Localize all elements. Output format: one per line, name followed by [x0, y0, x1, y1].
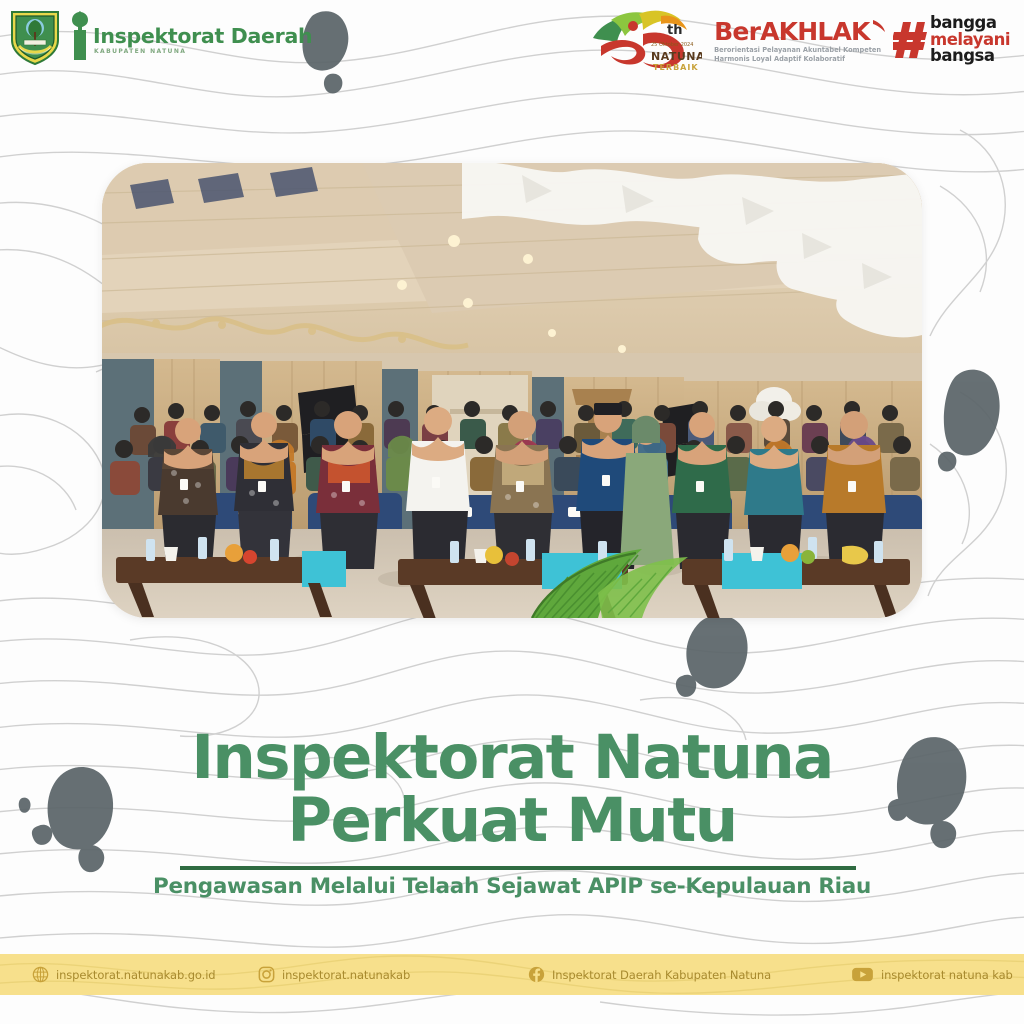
hashtag-icon: [893, 20, 927, 60]
footer-youtube-label: inspektorat natuna kab: [881, 968, 1013, 982]
group-photo-telaah-sejawat: [102, 163, 922, 618]
svg-text:th: th: [667, 23, 682, 38]
subtitle: Pengawasan Melalui Telaah Sejawat APIP s…: [0, 874, 1024, 899]
header-logo-bar: Inspektorat Daerah KABUPATEN NATUNA th 2…: [0, 0, 1024, 86]
inspektorat-daerah-logo: Inspektorat Daerah KABUPATEN NATUNA: [68, 10, 312, 62]
bangga-text: bangga melayani bangsa: [930, 15, 1010, 65]
instagram-icon: [258, 966, 275, 983]
berakhlak-logo: BerAKHLAK Berorientasi Pelayanan Akuntab…: [714, 16, 881, 64]
natuna-25th-anniversary-logo: th 25 Oktober 2024 NATUNA TERBAIK: [587, 4, 702, 76]
bangga-melayani-bangsa-logo: bangga melayani bangsa: [893, 15, 1010, 65]
headline-line-2: Perkuat Mutu: [0, 789, 1024, 852]
natuna-regency-emblem: [8, 6, 62, 66]
header-left-logos: Inspektorat Daerah KABUPATEN NATUNA: [8, 6, 312, 66]
headline-line-1: Inspektorat Natuna: [0, 726, 1024, 789]
brand-title: Inspektorat Daerah: [93, 26, 312, 47]
footer-website-item[interactable]: inspektorat.natunakab.go.id: [32, 966, 216, 983]
svg-text:25 Oktober 2024: 25 Oktober 2024: [651, 42, 693, 48]
headline-block: Inspektorat Natuna Perkuat Mutu: [0, 726, 1024, 853]
brand-text: Inspektorat Daerah KABUPATEN NATUNA: [93, 26, 312, 63]
bangga-line3: bangsa: [930, 48, 1010, 65]
facebook-icon: [528, 966, 545, 983]
footer-youtube-item[interactable]: inspektorat natuna kab: [851, 966, 1013, 983]
berakhlak-swoosh-icon: [871, 18, 887, 40]
footer-facebook-item[interactable]: Inspektorat Daerah Kabupaten Natuna: [528, 966, 771, 983]
berakhlak-title: BerAKHLAK: [714, 20, 881, 44]
svg-text:NATUNA: NATUNA: [651, 50, 702, 63]
inspektorat-i-mark: [68, 10, 92, 62]
berakhlak-tagline-line1: Berorientasi Pelayanan Akuntabel Kompete…: [714, 46, 881, 55]
youtube-icon: [851, 966, 874, 983]
svg-text:TERBAIK: TERBAIK: [653, 63, 699, 72]
header-right-logos: th 25 Oktober 2024 NATUNA TERBAIK BerAKH…: [587, 4, 1010, 76]
brand-subtitle: KABUPATEN NATUNA: [94, 48, 312, 55]
social-footer-bar: inspektorat.natunakab.go.id inspektorat.…: [0, 954, 1024, 995]
title-divider: [180, 866, 856, 870]
globe-icon: [32, 966, 49, 983]
footer-instagram-item[interactable]: inspektorat.natunakab: [258, 966, 410, 983]
footer-instagram-label: inspektorat.natunakab: [282, 968, 410, 982]
footer-facebook-label: Inspektorat Daerah Kabupaten Natuna: [552, 968, 771, 982]
berakhlak-tagline-line2: Harmonis Loyal Adaptif Kolaboratif: [714, 55, 881, 64]
footer-website-label: inspektorat.natunakab.go.id: [56, 968, 216, 982]
